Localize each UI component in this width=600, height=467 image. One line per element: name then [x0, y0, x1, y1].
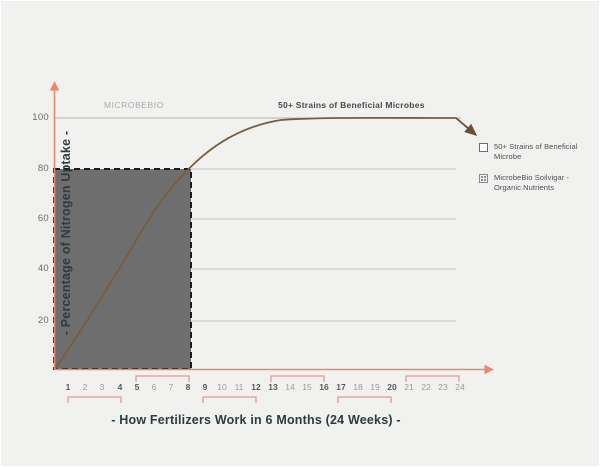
x-tick-17: 17 — [332, 382, 350, 392]
x-tick-16: 16 — [315, 382, 333, 392]
x-tick-20: 20 — [383, 382, 401, 392]
x-tick-8: 8 — [179, 382, 197, 392]
x-tick-19: 19 — [366, 382, 384, 392]
x-tick-11: 11 — [230, 382, 248, 392]
bracket-weeks-1-4 — [68, 397, 121, 403]
x-tick-4: 4 — [111, 382, 129, 392]
outline-square-icon — [479, 143, 488, 152]
legend-label-strains: 50+ Strains of Beneficial Microbe — [494, 142, 595, 162]
legend-item-soilvigar[interactable]: MicrobeBio Soilvigar - Organic Nutrients — [479, 173, 595, 193]
x-tick-22: 22 — [417, 382, 435, 392]
x-tick-7: 7 — [162, 382, 180, 392]
chart-canvas — [1, 1, 600, 467]
y-axis-title: - Percentage of Nitrogen Uptake - — [59, 83, 73, 383]
legend-item-strains[interactable]: 50+ Strains of Beneficial Microbe — [479, 142, 595, 162]
x-tick-13: 13 — [264, 382, 282, 392]
x-tick-12: 12 — [247, 382, 265, 392]
x-tick-24: 24 — [451, 382, 469, 392]
bracket-weeks-17-20 — [338, 397, 391, 403]
x-tick-14: 14 — [281, 382, 299, 392]
legend-label-soilvigar: MicrobeBio Soilvigar - Organic Nutrients — [494, 173, 595, 193]
x-tick-15: 15 — [298, 382, 316, 392]
y-tick-40: 40 — [19, 263, 49, 274]
x-axis-title: - How Fertilizers Work in 6 Months (24 W… — [41, 413, 471, 427]
x-tick-10: 10 — [213, 382, 231, 392]
x-tick-23: 23 — [434, 382, 452, 392]
x-tick-6: 6 — [145, 382, 163, 392]
x-tick-5: 5 — [128, 382, 146, 392]
x-tick-3: 3 — [93, 382, 111, 392]
annotation-microbebio: MICROBEBIO — [104, 100, 164, 110]
y-tick-80: 80 — [19, 163, 49, 174]
x-tick-18: 18 — [349, 382, 367, 392]
chart-legend: 50+ Strains of Beneficial Microbe Microb… — [479, 142, 595, 204]
annotation-strains: 50+ Strains of Beneficial Microbes — [278, 100, 425, 110]
y-tick-60: 60 — [19, 213, 49, 224]
x-tick-21: 21 — [400, 382, 418, 392]
y-tick-100: 100 — [19, 112, 49, 123]
x-tick-1: 1 — [59, 382, 77, 392]
y-tick-20: 20 — [19, 315, 49, 326]
x-tick-9: 9 — [196, 382, 214, 392]
bracket-weeks-9-12 — [203, 397, 256, 403]
chart-figure: - Percentage of Nitrogen Uptake - 100 80… — [0, 0, 600, 467]
x-tick-2: 2 — [76, 382, 94, 392]
hatched-square-icon — [479, 174, 488, 183]
